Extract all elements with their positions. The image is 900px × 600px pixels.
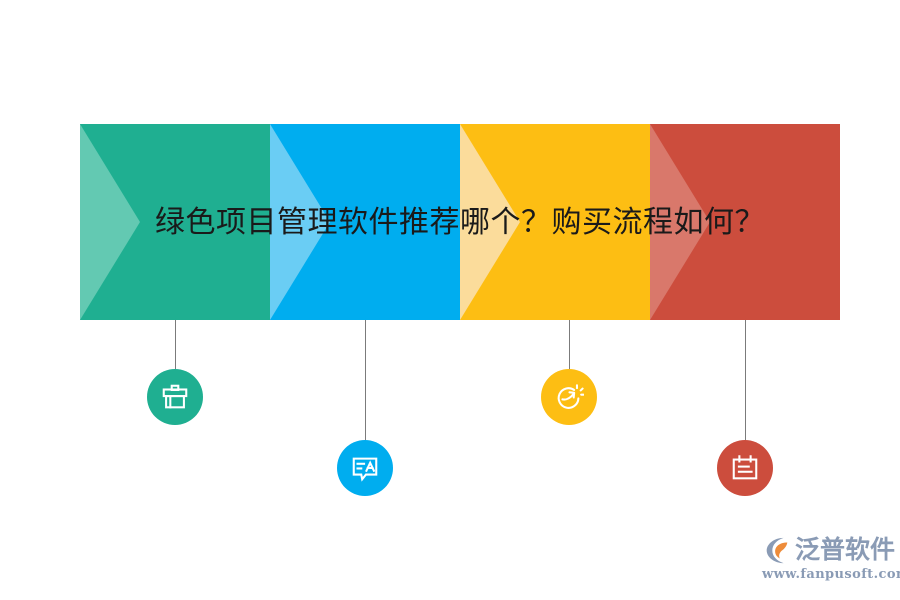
connector-line-translate — [365, 320, 366, 440]
growth-arrow-icon — [554, 382, 584, 412]
node-translate[interactable] — [337, 440, 393, 496]
node-calendar[interactable] — [717, 440, 773, 496]
chevron-overlay-red — [650, 124, 840, 320]
connector-line-calendar — [745, 320, 746, 440]
node-growth[interactable] — [541, 369, 597, 425]
logo-row: 泛普软件 — [762, 534, 890, 566]
segment-red — [650, 124, 840, 320]
connector-line-shop — [175, 320, 176, 369]
chevron-banner — [80, 124, 840, 320]
segment-yellow — [460, 124, 650, 320]
brand-logo[interactable]: 泛普软件 www.fanpusoft.com — [762, 534, 890, 586]
node-shop[interactable] — [147, 369, 203, 425]
fanpu-logo-mark — [762, 535, 792, 565]
chevron-overlay-yellow — [460, 124, 650, 320]
translate-bubble-icon — [350, 453, 380, 483]
chevron-overlay-blue — [270, 124, 460, 320]
shop-icon — [160, 382, 190, 412]
calendar-note-icon — [730, 453, 760, 483]
segment-green — [80, 124, 270, 320]
logo-url-text: www.fanpusoft.com — [762, 567, 890, 582]
banner-canvas: 绿色项目管理软件推荐哪个？购买流程如何？ — [0, 0, 900, 600]
logo-brand-text: 泛普软件 — [795, 535, 895, 565]
chevron-overlay-green — [80, 124, 270, 320]
connector-line-growth — [569, 320, 570, 369]
segment-blue — [270, 124, 460, 320]
